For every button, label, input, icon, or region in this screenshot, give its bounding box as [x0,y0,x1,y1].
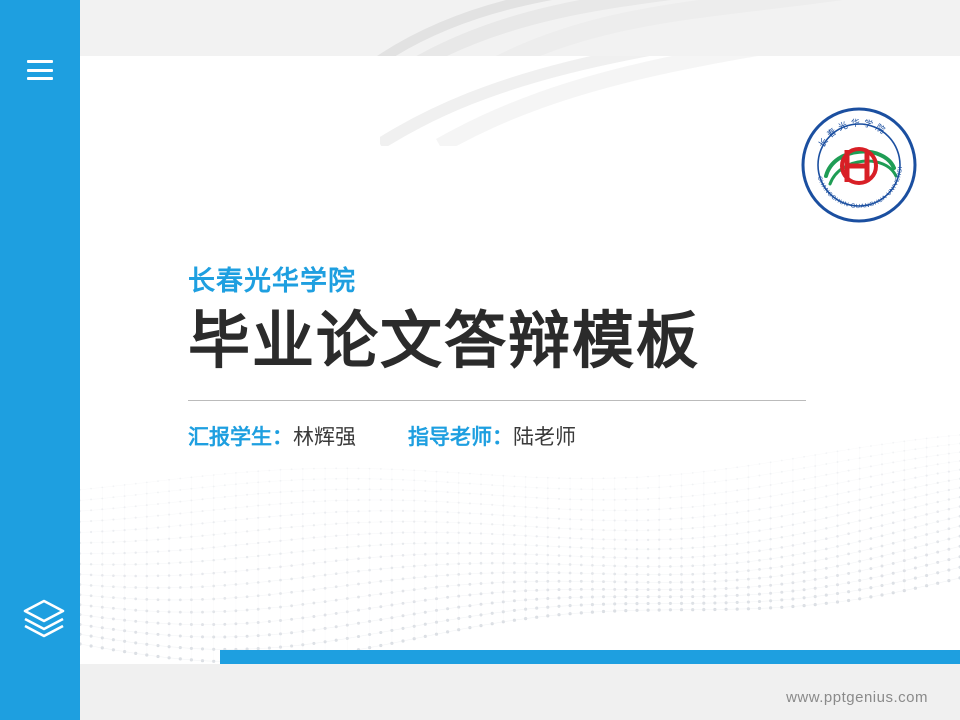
slide-top-background-strip [80,0,960,56]
student-name: 林辉强 [293,426,356,449]
dot-mesh-decoration [80,434,960,664]
title-block: 长春光华学院 毕业论文答辩模板 汇报学生：林辉强指导老师：陆老师 [188,264,888,453]
decorative-curves-top [80,0,960,56]
university-logo: 长春光华学院 CHANGCHUN GUANGHUA UNIVERSITY [800,106,918,224]
layers-stack-icon[interactable] [22,595,66,639]
school-name: 长春光华学院 [188,264,888,299]
footer-url: www.pptgenius.com [786,689,928,706]
teacher-name: 陆老师 [513,426,576,449]
presentation-slide-canvas: 长春光华学院 CHANGCHUN GUANGHUA UNIVERSITY 长春光… [0,0,960,720]
left-blue-sidebar [0,0,80,720]
teacher-label: 指导老师： [408,426,513,449]
presenter-meta: 汇报学生：林辉强指导老师：陆老师 [188,423,888,452]
hamburger-menu-icon[interactable] [27,60,53,80]
student-label: 汇报学生： [188,426,293,449]
slide-content-area: 长春光华学院 CHANGCHUN GUANGHUA UNIVERSITY 长春光… [80,56,960,664]
page-title: 毕业论文答辩模板 [188,305,888,378]
slide-bottom-accent-bar [220,650,960,664]
title-divider [188,400,806,401]
